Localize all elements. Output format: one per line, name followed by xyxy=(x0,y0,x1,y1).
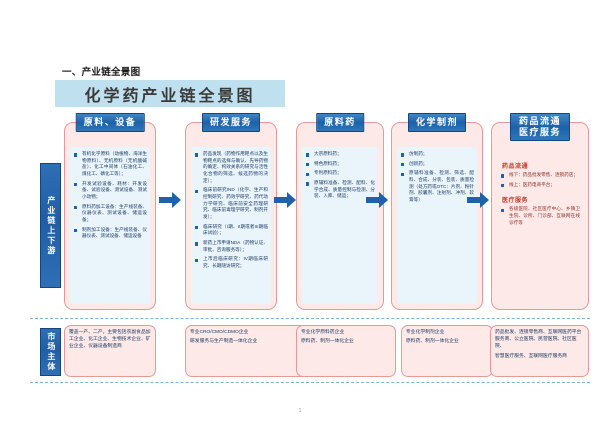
list-item: 仿制药； xyxy=(400,151,474,158)
caption-line-1: 药品流通 xyxy=(519,116,561,126)
subheading-medical-service: 医疗服务 xyxy=(502,195,580,204)
market-cell-formulation: 专业化学制剂企业 原料药、制剂一体化企业 xyxy=(401,325,493,377)
title-band: 化学药产业链全景图 xyxy=(55,80,285,107)
dashed-separator-top xyxy=(30,318,590,319)
list-item: 临床前研究IND（化学、生产和控制研究、药效学研究、药代动力学研究、临床前安全药… xyxy=(194,187,268,220)
stage-rnd-services-body: 药品发现（药物作用靶点以及生物靶点的选择与确认、先导药物的确定、构效关系的研究与… xyxy=(191,147,271,304)
stage-raw-materials-equipment-caption: 原料、设备 xyxy=(76,113,145,132)
bullet-list: 大宗原料药； 特色原料药； 专利原料药； 原辅料准备、检测、配料、化学合成、质量… xyxy=(305,151,375,200)
stage-chemical-formulation-caption: 化学制剂 xyxy=(408,113,466,132)
market-cell-line: 专业化学原料药企业 xyxy=(301,329,391,336)
stage-raw-materials-equipment-body: 有机化学原料（动植物、海洋生物原料）、无机原料（无机酸碱盐）、化工中间体（石油化… xyxy=(70,147,150,304)
list-item: 各级医院、社区医疗中心、乡镇卫生院、诊所、门诊部、互联网在线诊疗等 xyxy=(500,206,580,226)
list-item: 开发试验设备、耗材：开发设备、试验设备、测试设备、测试小动物； xyxy=(73,181,147,201)
stage-chemical-formulation: 化学制剂 仿制药； 创新药； 原辅料准备、检测、筛选、配料、合成、分装、包装、质… xyxy=(391,122,483,310)
rail-market-participants: 市场主体 xyxy=(40,328,61,376)
stage-api-body: 大宗原料药； 特色原料药； 专利原料药； 原辅料准备、检测、配料、化学合成、质量… xyxy=(302,147,378,304)
page-title: 化学药产业链全景图 xyxy=(84,82,255,106)
bullet-list: 药品发现（药物作用靶点以及生物靶点的选择与确认、先导药物的确定、构效关系的研究与… xyxy=(194,151,268,270)
list-item: 特色原料药； xyxy=(305,161,375,168)
list-item: 新药上市申请NDA（药物认证、审批、咨询服务等）； xyxy=(194,240,268,253)
market-cell-api: 专业化学原料药企业 原料药、制剂一体化企业 xyxy=(296,325,396,377)
stage-distribution-medical-service: 药品流通 医疗服务 药品流通 线下：药品批发零售、连锁药店； 线上：医药电商平台… xyxy=(491,122,589,310)
market-cell-line: 原料药、制剂一体化企业 xyxy=(406,338,488,345)
bullet-list: 有机化学原料（动植物、海洋生物原料）、无机原料（无机酸碱盐）、化工中间体（石油化… xyxy=(73,151,147,240)
rail-industry-chain-label: 产业链上下游 xyxy=(46,196,55,256)
page-number: 1 xyxy=(0,408,600,414)
list-item: 原辅料准备、检测、筛选、配料、合成、分装、包装、质量检测（处方药或OTC：片剂、… xyxy=(400,170,474,203)
list-item: 专利原料药； xyxy=(305,170,375,177)
list-item: 创新药； xyxy=(400,161,474,168)
stage-distribution-medical-service-body: 药品流通 线下：药品批发零售、连锁药店； 线上：医药电商平台； 医疗服务 各级医… xyxy=(497,155,583,304)
stage-chemical-formulation-body: 仿制药； 创新药； 原辅料准备、检测、筛选、配料、合成、分装、包装、质量检测（处… xyxy=(397,147,477,304)
market-cell-line: 专业化学制剂企业 xyxy=(406,329,488,336)
list-item: 有机化学原料（动植物、海洋生物原料）、无机原料（无机酸碱盐）、化工中间体（石油化… xyxy=(73,151,147,178)
stage-rnd-services: 研发服务 药品发现（药物作用靶点以及生物靶点的选择与确认、先导药物的确定、构效关… xyxy=(185,122,277,310)
subheading-distribution: 药品流通 xyxy=(502,161,580,170)
list-item: 原辅料准备、检测、配料、化学合成、质量控制与检测、分装、入库、储运； xyxy=(305,180,375,200)
market-cell-line: 智慧医疗服务、互联网医疗服务商 xyxy=(495,353,584,360)
chemical-pharma-industry-chain-slide: 一、产业链全景图 化学药产业链全景图 产业链上下游 市场主体 原料、设备 有机化… xyxy=(0,0,600,424)
market-cell-distribution: 药品批发、连锁零售商、互联网医药平台服务商、公立医院、民营医院、社区医院、 智慧… xyxy=(490,325,589,377)
market-cell-line: 药品批发、连锁零售商、互联网医药平台服务商、公立医院、民营医院、社区医院、 xyxy=(495,329,584,351)
stage-rnd-services-caption: 研发服务 xyxy=(202,113,260,132)
stage-distribution-medical-service-caption: 药品流通 医疗服务 xyxy=(510,113,570,141)
flow-arrow-2 xyxy=(274,192,296,208)
market-cell-line: 原料药、制剂一体化企业 xyxy=(301,338,391,345)
flow-arrow-4 xyxy=(467,192,489,208)
list-item: 原料药加工设备：生产线装备、仪器仪表、测试设备、储运设备； xyxy=(73,204,147,224)
section-heading: 一、产业链全景图 xyxy=(62,64,140,78)
bullet-list-medical-service: 各级医院、社区医疗中心、乡镇卫生院、诊所、门诊部、互联网在线诊疗等 xyxy=(500,206,580,226)
market-cell-line: 覆盖一产、二产，主要包括农副食品加工企业、化工企业、生物技术企业、矿业企业、仪器… xyxy=(69,329,151,351)
bullet-list-distribution: 线下：药品批发零售、连锁药店； 线上：医药电商平台； xyxy=(500,172,580,188)
caption-line-2: 医疗服务 xyxy=(519,127,561,137)
list-item: 大宗原料药； xyxy=(305,151,375,158)
market-cell-raw-materials: 覆盖一产、二产，主要包括农副食品加工企业、化工企业、生物技术企业、矿业企业、仪器… xyxy=(64,325,156,377)
flow-arrow-3 xyxy=(366,192,388,208)
rail-market-participants-label: 市场主体 xyxy=(46,332,55,372)
list-item: 上市后临床研究：IV期临床研究、长期随访研究； xyxy=(194,256,268,269)
list-item: 线下：药品批发零售、连锁药店； xyxy=(500,172,580,179)
dashed-separator-bottom xyxy=(30,382,590,383)
flow-arrow-1 xyxy=(159,192,181,208)
list-item: 线上：医药电商平台； xyxy=(500,182,580,189)
list-item: 制剂加工设备：生产线装备、仪器仪表、测试设备、储运设备 xyxy=(73,227,147,240)
stage-api: 原料药 大宗原料药； 特色原料药； 专利原料药； 原辅料准备、检测、配料、化学合… xyxy=(296,122,384,310)
stage-api-caption: 原料药 xyxy=(316,113,364,132)
bullet-list: 仿制药； 创新药； 原辅料准备、检测、筛选、配料、合成、分装、包装、质量检测（处… xyxy=(400,151,474,204)
rail-industry-chain: 产业链上下游 xyxy=(40,163,61,288)
list-item: 药品发现（药物作用靶点以及生物靶点的选择与确认、先导药物的确定、构效关系的研究与… xyxy=(194,151,268,184)
stage-raw-materials-equipment: 原料、设备 有机化学原料（动植物、海洋生物原料）、无机原料（无机酸碱盐）、化工中… xyxy=(64,122,156,310)
list-item: 临床研究（I期、II期或者III期临床试验）； xyxy=(194,224,268,237)
